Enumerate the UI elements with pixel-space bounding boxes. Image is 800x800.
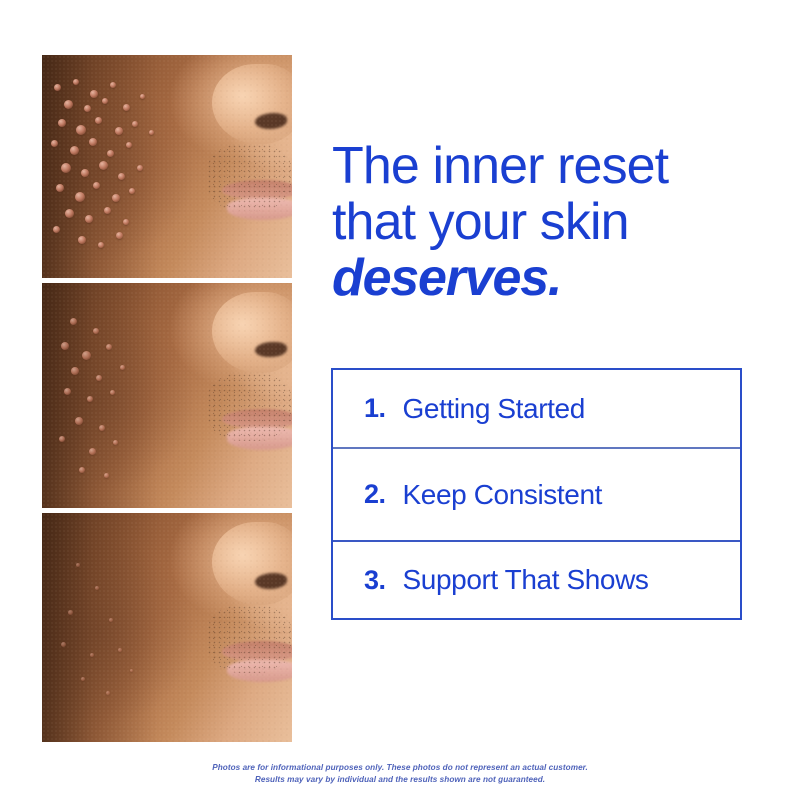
photo-stack	[42, 55, 292, 742]
disclaimer: Photos are for informational purposes on…	[0, 762, 800, 785]
step-label: Support That Shows	[403, 564, 649, 596]
page-title: The inner reset that your skin deserves.	[332, 138, 762, 306]
headline-line-3-emphasis: deserves.	[332, 250, 762, 306]
acne-cluster-low	[42, 531, 197, 728]
acne-cluster-high	[42, 73, 197, 265]
step-item-support-that-shows[interactable]: 3. Support That Shows	[333, 542, 740, 618]
disclaimer-line-1: Photos are for informational purposes on…	[0, 762, 800, 774]
step-number: 1.	[364, 393, 386, 424]
photo-progress	[42, 283, 292, 508]
step-number: 3.	[364, 565, 386, 596]
step-label: Getting Started	[403, 393, 585, 425]
headline-line-2: that your skin	[332, 194, 762, 250]
step-label: Keep Consistent	[403, 479, 602, 511]
photo-before	[42, 55, 292, 278]
step-item-getting-started[interactable]: 1. Getting Started	[333, 370, 740, 447]
headline-line-1: The inner reset	[332, 138, 762, 194]
disclaimer-line-2: Results may vary by individual and the r…	[0, 774, 800, 786]
step-item-keep-consistent[interactable]: 2. Keep Consistent	[333, 447, 740, 542]
photo-after	[42, 513, 292, 742]
acne-cluster-medium	[42, 301, 197, 495]
step-list: 1. Getting Started 2. Keep Consistent 3.…	[331, 368, 742, 620]
step-number: 2.	[364, 479, 386, 510]
